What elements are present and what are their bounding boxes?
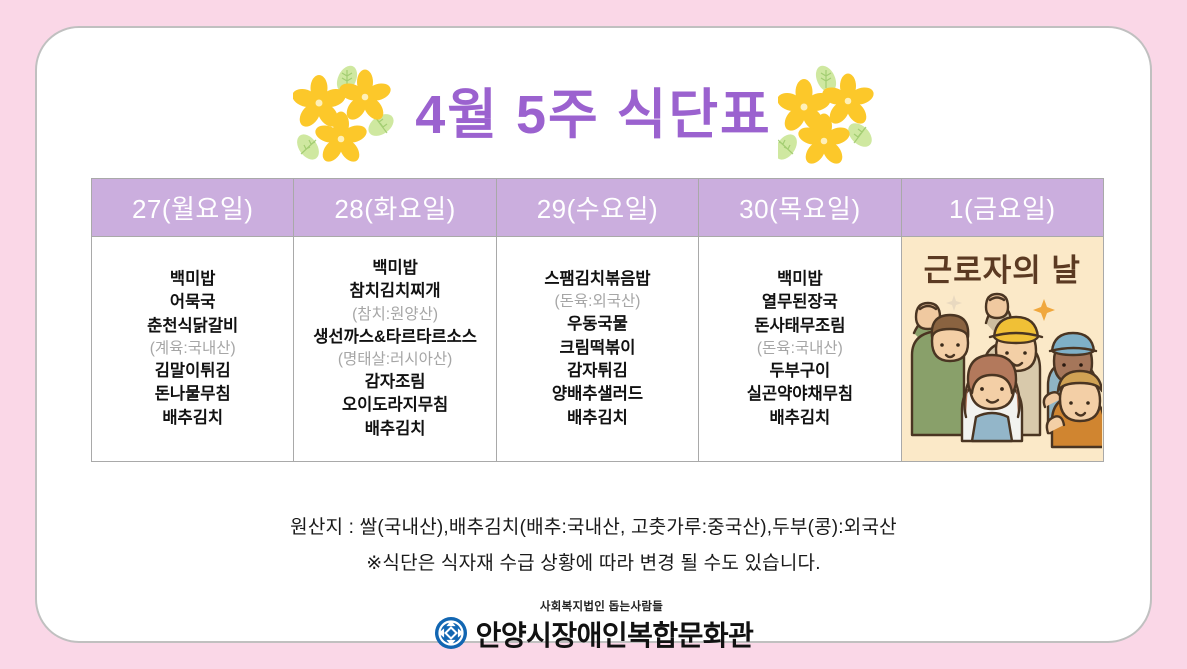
menu-item: 양배추샐러드 [501, 383, 694, 406]
menu-origin-note: (돈육:외국산) [501, 291, 694, 313]
menu-item: 두부구이 [703, 360, 896, 383]
page-title: 4월 5주 식단표 [415, 88, 771, 142]
menu-item: 오이도라지무침 [298, 394, 491, 417]
menu-item: 돈사태무조림 [703, 315, 896, 338]
menu-item: 김말이튀김 [96, 360, 289, 383]
org-main-row: 안양시장애인복합문화관 [434, 616, 754, 655]
change-note: ※식단은 식자재 수급 상황에 따라 변경 될 수도 있습니다. [37, 546, 1150, 582]
menu-cell-thu: 백미밥열무된장국돈사태무조림(돈육:국내산)두부구이실곤약야채무침배추김치 [699, 237, 901, 462]
menu-cell-fri-holiday: 근로자의 날 [901, 237, 1103, 462]
menu-origin-note: (돈육:국내산) [703, 338, 896, 360]
menu-item: 참치김치찌개 [298, 280, 491, 303]
menu-origin-note: (명태살:러시아산) [298, 349, 491, 371]
notes-section: 원산지 : 쌀(국내산),배추김치(배추:국내산, 고춧가루:중국산),두부(콩… [37, 510, 1150, 582]
menu-item: 백미밥 [298, 257, 491, 280]
menu-item: 배추김치 [298, 418, 491, 441]
menu-item: 우동국물 [501, 313, 694, 336]
org-subtitle: 사회복지법인 돕는사람들 [540, 598, 663, 614]
menu-cell-tue: 백미밥참치김치찌개(참치:원양산)생선까스&타르타르소스(명태살:러시아산)감자… [294, 237, 496, 462]
day-header-tue: 28(화요일) [294, 179, 496, 237]
flower-cluster-icon-right [778, 63, 894, 167]
menu-item: 백미밥 [96, 268, 289, 291]
menu-item: 스팸김치볶음밥 [501, 268, 694, 291]
menu-origin-note: (참치:원양산) [298, 304, 491, 326]
day-header-fri: 1(금요일) [901, 179, 1103, 237]
menu-cell-mon: 백미밥어묵국춘천식닭갈비(계육:국내산)김말이튀김돈나물무침배추김치 [92, 237, 294, 462]
menu-item: 크림떡볶이 [501, 337, 694, 360]
table-header-row: 27(월요일) 28(화요일) 29(수요일) 30(목요일) 1(금요일) [92, 179, 1104, 237]
origin-note: 원산지 : 쌀(국내산),배추김치(배추:국내산, 고춧가루:중국산),두부(콩… [37, 510, 1150, 546]
menu-item: 백미밥 [703, 268, 896, 291]
day-header-thu: 30(목요일) [699, 179, 901, 237]
menu-cell-wed: 스팸김치볶음밥(돈육:외국산)우동국물크림떡볶이감자튀김양배추샐러드배추김치 [496, 237, 698, 462]
table-row: 백미밥어묵국춘천식닭갈비(계육:국내산)김말이튀김돈나물무침배추김치 백미밥참치… [92, 237, 1104, 462]
menu-item: 배추김치 [703, 407, 896, 430]
menu-item: 생선까스&타르타르소스 [298, 326, 491, 349]
menu-item: 춘천식닭갈비 [96, 315, 289, 338]
menu-item: 돈나물무침 [96, 383, 289, 406]
day-header-mon: 27(월요일) [92, 179, 294, 237]
holiday-title: 근로자의 날 [902, 245, 1103, 290]
day-header-wed: 29(수요일) [496, 179, 698, 237]
flower-cluster-icon-left [293, 63, 409, 167]
content-card: 4월 5주 식단표 [35, 26, 1152, 643]
footer-logo: 사회복지법인 돕는사람들 안양시장애인복합문화관 [37, 598, 1150, 655]
menu-item: 감자튀김 [501, 360, 694, 383]
menu-item: 어묵국 [96, 291, 289, 314]
labor-day-illustration: 근로자의 날 [902, 237, 1103, 461]
menu-item: 실곤약야채무침 [703, 383, 896, 406]
menu-item: 배추김치 [96, 407, 289, 430]
menu-origin-note: (계육:국내산) [96, 338, 289, 360]
org-name: 안양시장애인복합문화관 [476, 622, 754, 650]
menu-item: 열무된장국 [703, 291, 896, 314]
menu-item: 감자조림 [298, 371, 491, 394]
title-row: 4월 5주 식단표 [37, 60, 1150, 170]
compass-circle-logo-icon [434, 616, 468, 655]
menu-item: 배추김치 [501, 407, 694, 430]
weekly-menu-table: 27(월요일) 28(화요일) 29(수요일) 30(목요일) 1(금요일) 백… [91, 178, 1104, 462]
